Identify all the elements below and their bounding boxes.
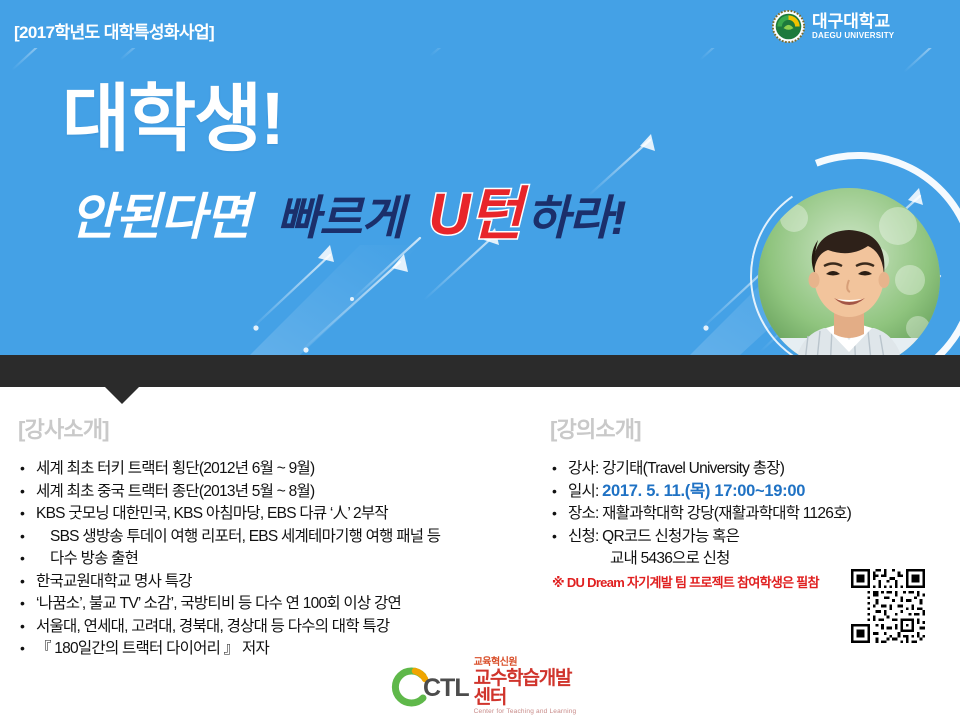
dark-divider-band	[0, 355, 960, 387]
lecture-item-speaker: 강사: 강기태(Travel University 총장)	[536, 458, 946, 480]
list-item: 서울대, 연세대, 고려대, 경북대, 경상대 등 다수의 대학 특강	[18, 616, 538, 638]
qr-code-icon[interactable]	[848, 566, 928, 646]
ctl-sub-label: Center for Teaching and Learning	[474, 709, 585, 716]
lecture-item-value: 재활과학대학 강당(재활과학대학 1126호)	[602, 505, 851, 522]
poster-root: [2017학년도 대학특성화사업] 대구대학교 DAEGU UNIVERSITY	[0, 0, 960, 720]
headline-sub-part-3: U턴	[429, 182, 522, 247]
university-name-ko: 대구대학교	[812, 13, 894, 30]
band-notch-triangle	[105, 387, 139, 404]
lecture-item-label: 신청:	[568, 528, 599, 545]
ctl-mark: CTL	[423, 674, 469, 703]
list-item: 한국교원대학교 명사 특강	[18, 571, 538, 593]
university-name-en: DAEGU UNIVERSITY	[812, 32, 894, 40]
lecture-section-heading: [강의소개]	[550, 412, 946, 444]
ctl-top-label: 교육혁신원	[474, 658, 585, 668]
qr-code[interactable]	[844, 562, 932, 650]
lecture-item-datetime: 일시: 2017. 5. 11.(목) 17:00~19:00	[536, 481, 946, 503]
lecture-item-apply: 신청: QR코드 신청가능 혹은	[536, 526, 946, 548]
hero-banner: [2017학년도 대학특성화사업] 대구대학교 DAEGU UNIVERSITY	[0, 0, 960, 355]
program-tag: [2017학년도 대학특성화사업]	[14, 18, 214, 43]
headline-sub-part-2: 빠르게	[277, 191, 404, 244]
list-item: 세계 최초 터키 트랙터 횡단(2012년 6월 ~ 9월)	[18, 458, 538, 480]
list-item-continuation: 다수 방송 출현	[18, 548, 538, 570]
daegu-university-emblem-icon	[772, 10, 805, 43]
university-logo: 대구대학교 DAEGU UNIVERSITY	[772, 8, 948, 44]
list-item: KBS 굿모닝 대한민국, KBS 아침마당, EBS 다큐 ‘人’ 2부작	[18, 503, 538, 525]
ctl-main-label: 교수학습개발센터	[474, 669, 585, 707]
lecture-item-label: 강사:	[568, 460, 599, 477]
lecture-datetime-value: 2017. 5. 11.(목) 17:00~19:00	[602, 482, 805, 500]
headline-main: 대학생!	[62, 82, 283, 156]
lecture-intro-column: [강의소개] 강사: 강기태(Travel University 총장) 일시:…	[536, 412, 946, 591]
list-item: ‘나꿈소’, 불교 TV’ 소감’, 국방티비 등 다수 연 100회 이상 강…	[18, 593, 538, 615]
lecture-item-label: 장소:	[568, 505, 599, 522]
lecture-item-label: 일시:	[568, 483, 599, 500]
list-item: 세계 최초 중국 트랙터 종단(2013년 5월 ~ 8월)	[18, 481, 538, 503]
lecture-bullet-list: 강사: 강기태(Travel University 총장) 일시: 2017. …	[536, 458, 946, 570]
speaker-section-heading: [강사소개]	[18, 412, 538, 444]
speaker-intro-column: [강사소개] 세계 최초 터키 트랙터 횡단(2012년 6월 ~ 9월) 세계…	[18, 412, 538, 661]
lecture-item-value: 강기태(Travel University 총장)	[602, 460, 784, 477]
headline-sub: 안된다면 빠르게 U턴 하라!	[70, 186, 625, 244]
lecture-item-location: 장소: 재활과학대학 강당(재활과학대학 1126호)	[536, 503, 946, 525]
list-item: 『 180일간의 트랙터 다이어리 』 저자	[18, 638, 538, 660]
headline-sub-part-4: 하라!	[526, 191, 625, 244]
speaker-bullet-list: 세계 최초 터키 트랙터 횡단(2012년 6월 ~ 9월) 세계 최초 중국 …	[18, 458, 538, 660]
headline-sub-part-1: 안된다면	[70, 189, 250, 245]
ctl-logo: CTL 교육혁신원 교수학습개발센터 Center for Teaching a…	[385, 664, 585, 710]
list-item-continuation: SBS 생방송 투데이 여행 리포터, EBS 세계테마기행 여행 패널 등	[18, 526, 538, 548]
lecture-item-value: QR코드 신청가능 혹은	[602, 528, 739, 545]
